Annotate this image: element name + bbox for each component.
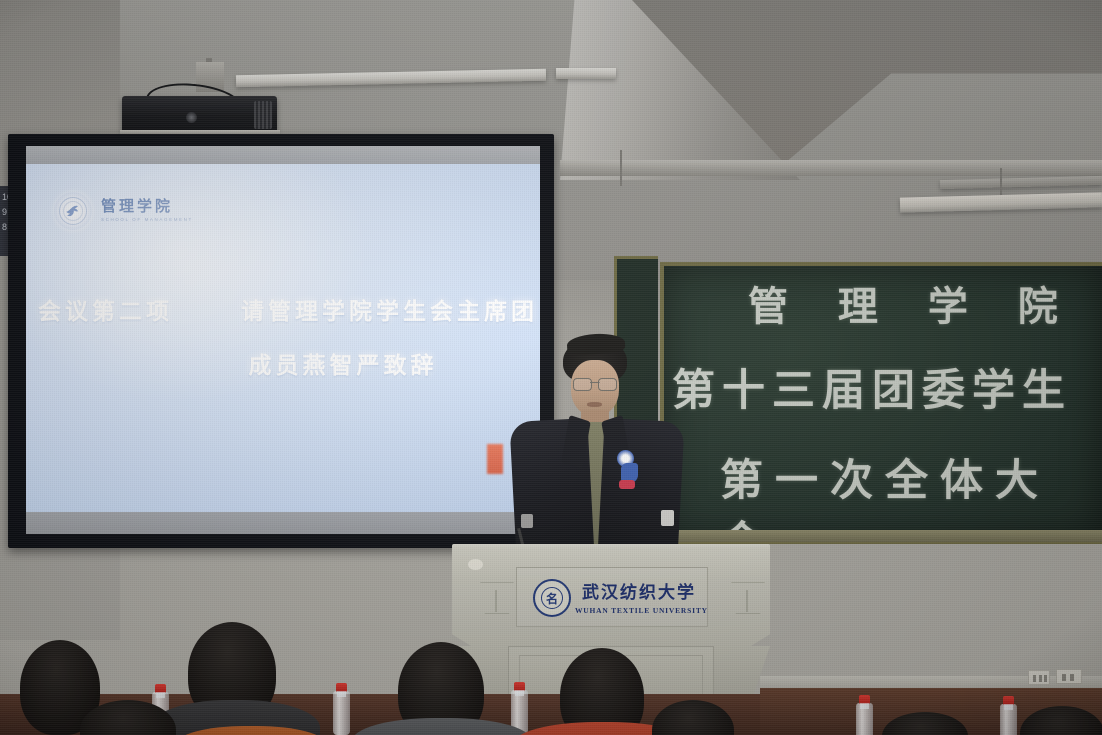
projector-icon xyxy=(122,96,277,134)
school-emblem-icon xyxy=(54,192,92,230)
slide-agenda-item: 会议第二项 xyxy=(38,299,173,325)
light-hanger xyxy=(1000,168,1002,198)
bird-glyph-icon xyxy=(63,201,83,221)
blackboard-line-1: 管 理 学 院 xyxy=(748,274,1076,332)
university-seal-icon: 名 xyxy=(533,579,571,617)
projector-vent xyxy=(254,101,272,129)
power-outlet-icon[interactable] xyxy=(1028,670,1050,685)
slide-logo-cn: 管理学院 xyxy=(101,199,193,214)
water-bottle xyxy=(1000,704,1017,735)
ceiling-edge-trim xyxy=(560,160,1102,176)
photo-scene: 10 9 8 管理学院 SCHOOL OF MANAGEM xyxy=(0,0,1102,735)
light-hanger xyxy=(620,150,622,186)
slide-logo-en: SCHOOL OF MANAGEMENT xyxy=(101,218,193,223)
slide-red-highlight xyxy=(487,444,503,474)
podium-sticker xyxy=(468,559,483,570)
slide-letterbox-top xyxy=(26,146,540,164)
fluorescent-light-icon xyxy=(556,68,616,79)
sleeve-logo-left-icon xyxy=(521,514,533,528)
slide-logo-text: 管理学院 SCHOOL OF MANAGEMENT xyxy=(101,199,193,223)
university-name-en: WUHAN TEXTILE UNIVERSITY xyxy=(575,606,703,615)
seal-glyph: 名 xyxy=(541,587,563,609)
glasses-icon xyxy=(573,378,617,389)
slide-letterbox-bottom xyxy=(26,512,540,534)
speaker-mouth xyxy=(587,402,602,407)
presentation-slide: 管理学院 SCHOOL OF MANAGEMENT 会议第二项 请管理学院学生会… xyxy=(26,164,540,524)
projector-lens xyxy=(186,112,197,123)
slide-line-2: 成员燕智严致辞 xyxy=(26,346,540,380)
water-bottle xyxy=(856,703,873,735)
blackboard: 管 理 学 院 第十三届团委学生 第一次全体大会 xyxy=(660,262,1102,544)
slide-agenda-detail: 请管理学院学生会主席团 xyxy=(241,299,538,325)
power-outlet-icon[interactable] xyxy=(1056,669,1082,684)
blackboard-line-2: 第十三届团委学生 xyxy=(672,356,1072,418)
projection-screen-surface: 管理学院 SCHOOL OF MANAGEMENT 会议第二项 请管理学院学生会… xyxy=(26,146,540,534)
podium-ornament-divider xyxy=(495,590,497,612)
slide-body: 会议第二项 请管理学院学生会主席团 成员燕智严致辞 xyxy=(26,292,540,380)
speaker-person xyxy=(505,338,685,563)
university-name-cn: 武汉纺织大学 xyxy=(575,578,703,603)
water-bottle xyxy=(333,691,350,735)
blackboard-text: 管 理 学 院 第十三届团委学生 第一次全体大会 xyxy=(664,266,1102,540)
podium-university-name: 武汉纺织大学 WUHAN TEXTILE UNIVERSITY xyxy=(575,578,703,615)
slide-logo: 管理学院 SCHOOL OF MANAGEMENT xyxy=(54,192,193,230)
projection-screen: 管理学院 SCHOOL OF MANAGEMENT 会议第二项 请管理学院学生会… xyxy=(8,134,554,548)
slide-line-1: 会议第二项 请管理学院学生会主席团 xyxy=(26,292,540,326)
blackboard-chalk-sill xyxy=(614,530,1102,542)
podium-ornament-divider xyxy=(746,590,748,612)
jacket-patch-icon xyxy=(617,450,641,490)
sleeve-logo-icon xyxy=(661,510,674,526)
